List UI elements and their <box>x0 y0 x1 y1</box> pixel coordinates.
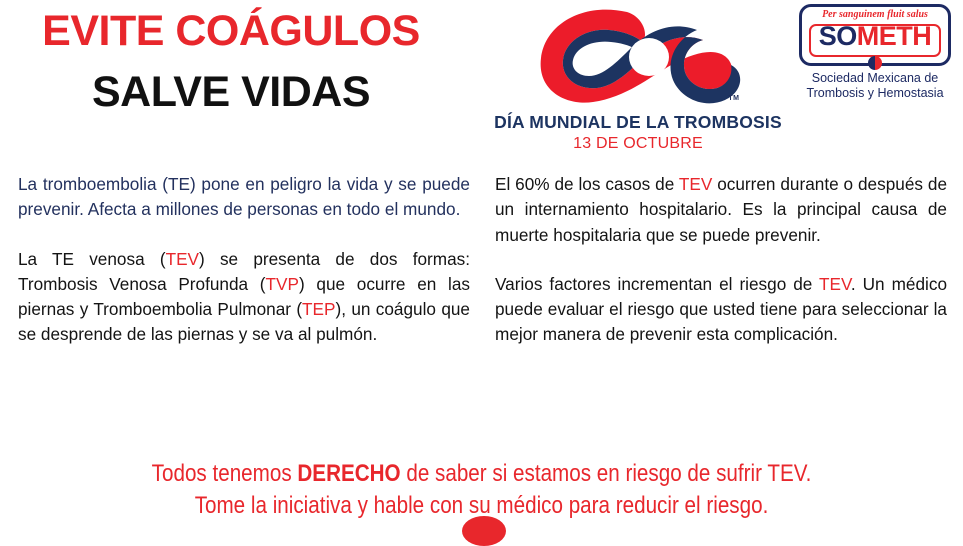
acronym-highlight: TVP <box>266 274 299 294</box>
right-paragraph-1: El 60% de los casos de TEV ocurren duran… <box>495 172 947 248</box>
footer-line-1-after: de saber si estamos en riesgo de sufrir … <box>401 460 812 487</box>
infinity-loop-icon: TM <box>531 2 746 110</box>
headline-block: EVITE COÁGULOS SALVE VIDAS <box>0 10 462 114</box>
someth-subtitle-line-1: Sociedad Mexicana de <box>791 71 959 86</box>
someth-logo: Per sanguinem fluit salus SOMETH Socieda… <box>791 4 959 101</box>
headline-line-1: EVITE COÁGULOS <box>0 10 462 53</box>
acronym-highlight: TEP <box>302 299 335 319</box>
acronym-highlight: TEV <box>819 274 851 294</box>
someth-wordmark-meth: METH <box>857 21 932 51</box>
right-paragraph-2: Varios factores incrementan el riesgo de… <box>495 272 947 348</box>
paragraph-text: El 60% de los casos de <box>495 174 679 194</box>
footer-line-1: Todos tenemos DERECHO de saber si estamo… <box>67 458 895 490</box>
headline-line-2: SALVE VIDAS <box>0 71 462 114</box>
someth-subtitle-line-2: Trombosis y Hemostasia <box>791 86 959 101</box>
footer-line-1-before: Todos tenemos <box>152 460 298 487</box>
right-text-column: El 60% de los casos de TEV ocurren duran… <box>495 172 947 348</box>
acronym-highlight: TEV <box>679 174 712 194</box>
left-paragraph-1: La tromboembolia (TE) pone en peligro la… <box>18 172 470 223</box>
paragraph-text: La TE venosa ( <box>18 249 166 269</box>
acronym-highlight: TEV <box>166 249 199 269</box>
trademark-icon: TM <box>728 95 739 102</box>
world-thrombosis-day-logo: TM DÍA MUNDIAL DE LA TROMBOSIS 13 DE OCT… <box>473 2 803 153</box>
wtd-date: 13 DE OCTUBRE <box>473 135 803 153</box>
left-text-column: La tromboembolia (TE) pone en peligro la… <box>18 172 470 348</box>
poster-canvas: EVITE COÁGULOS SALVE VIDAS TM DÍA MUNDIA… <box>0 0 963 530</box>
paragraph-text: Varios factores incrementan el riesgo de <box>495 274 819 294</box>
someth-motto: Per sanguinem fluit salus <box>802 9 948 20</box>
someth-subtitle: Sociedad Mexicana de Trombosis y Hemosta… <box>791 71 959 101</box>
footer-callout: Todos tenemos DERECHO de saber si estamo… <box>0 458 963 521</box>
someth-wordmark-so: SO <box>819 21 857 51</box>
someth-badge: Per sanguinem fluit salus SOMETH <box>799 4 951 66</box>
blood-drop-icon <box>868 56 882 70</box>
wtd-title: DÍA MUNDIAL DE LA TROMBOSIS <box>473 112 803 133</box>
footer-line-1-bold: DERECHO <box>297 460 400 487</box>
bottom-red-arc-decoration <box>462 516 506 546</box>
left-paragraph-2: La TE venosa (TEV) se presenta de dos fo… <box>18 247 470 348</box>
someth-wordmark: SOMETH <box>802 23 948 50</box>
